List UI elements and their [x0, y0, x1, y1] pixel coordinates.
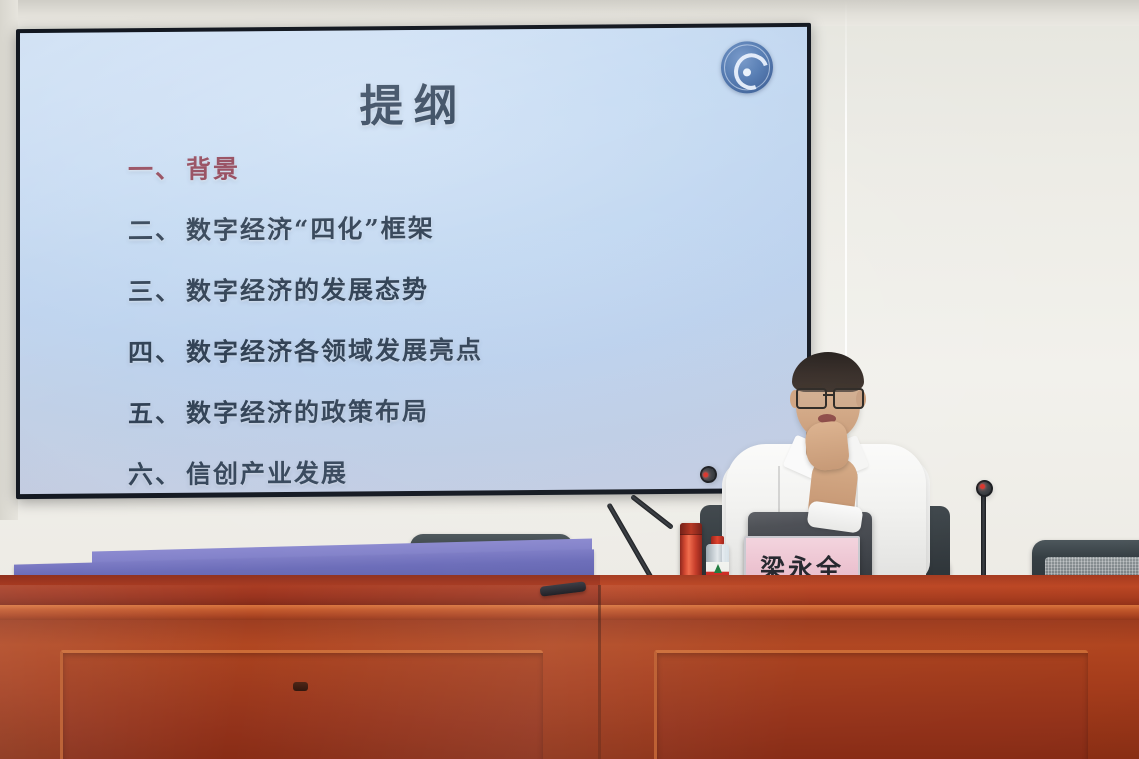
slide-list-item: 三、数字经济的发展态势 [128, 267, 768, 308]
slide-item-text: 数字经济的发展态势 [186, 275, 429, 306]
desk-seam [598, 585, 601, 759]
slide-list-item: 二、数字经济“四化”框架 [128, 206, 768, 247]
slide-item-text: 背景 [186, 154, 240, 183]
eyeglasses-icon [794, 388, 864, 406]
mic-led [980, 484, 985, 489]
mic-led [702, 471, 709, 478]
hand [804, 420, 851, 472]
desk-panel-right [600, 575, 1139, 759]
desk-lip [0, 605, 600, 621]
slide-item-text: 信创产业发展 [186, 459, 348, 489]
slide-item-number: 三、 [128, 277, 182, 306]
desk-recessed-panel [654, 650, 1088, 759]
thermos-cap [680, 523, 702, 535]
slide-item-number: 一、 [128, 155, 182, 184]
projection-screen-frame: 提纲 一、背景 二、数字经济“四化”框架 三、数字经济的发展态势 四、数字经济各… [16, 23, 811, 499]
desk-panel-left [0, 575, 600, 759]
glasses-bridge [823, 394, 833, 396]
wall-ceiling-shadow [0, 0, 1139, 26]
glasses-lens-right [833, 388, 864, 409]
desk-front [0, 575, 1139, 759]
desk-lip [600, 605, 1139, 621]
desk-face [600, 620, 1139, 759]
desk-knob [293, 682, 308, 691]
slide-list-item: 四、数字经济各领域发展亮点 [128, 328, 768, 369]
mic-capsule [976, 480, 993, 497]
mic-gooseneck-upper [630, 494, 674, 530]
desk-rail [0, 575, 600, 607]
slide-list-item: 一、背景 [128, 145, 768, 186]
desk-recessed-panel [60, 650, 543, 759]
desk-rail [600, 575, 1139, 607]
conference-desk [0, 565, 1139, 759]
slide-item-number: 五、 [128, 399, 182, 428]
desk-face [0, 620, 600, 759]
projection-screen: 提纲 一、背景 二、数字经济“四化”框架 三、数字经济的发展态势 四、数字经济各… [20, 27, 807, 494]
slide-item-text: 数字经济“四化”框架 [186, 214, 435, 245]
glasses-lens-left [796, 388, 827, 409]
slide-title: 提纲 [20, 67, 807, 137]
slide-item-number: 六、 [128, 460, 182, 489]
slide-item-text: 数字经济各领域发展亮点 [186, 335, 483, 366]
slide-item-text: 数字经济的政策布局 [186, 397, 429, 428]
photo-scene: 提纲 一、背景 二、数字经济“四化”框架 三、数字经济的发展态势 四、数字经济各… [0, 0, 1139, 759]
slide-item-number: 四、 [128, 338, 182, 367]
slide-outline-list: 一、背景 二、数字经济“四化”框架 三、数字经济的发展态势 四、数字经济各领域发… [128, 145, 768, 494]
slide-list-item: 五、数字经济的政策布局 [128, 389, 768, 430]
slide-item-number: 二、 [128, 216, 182, 245]
